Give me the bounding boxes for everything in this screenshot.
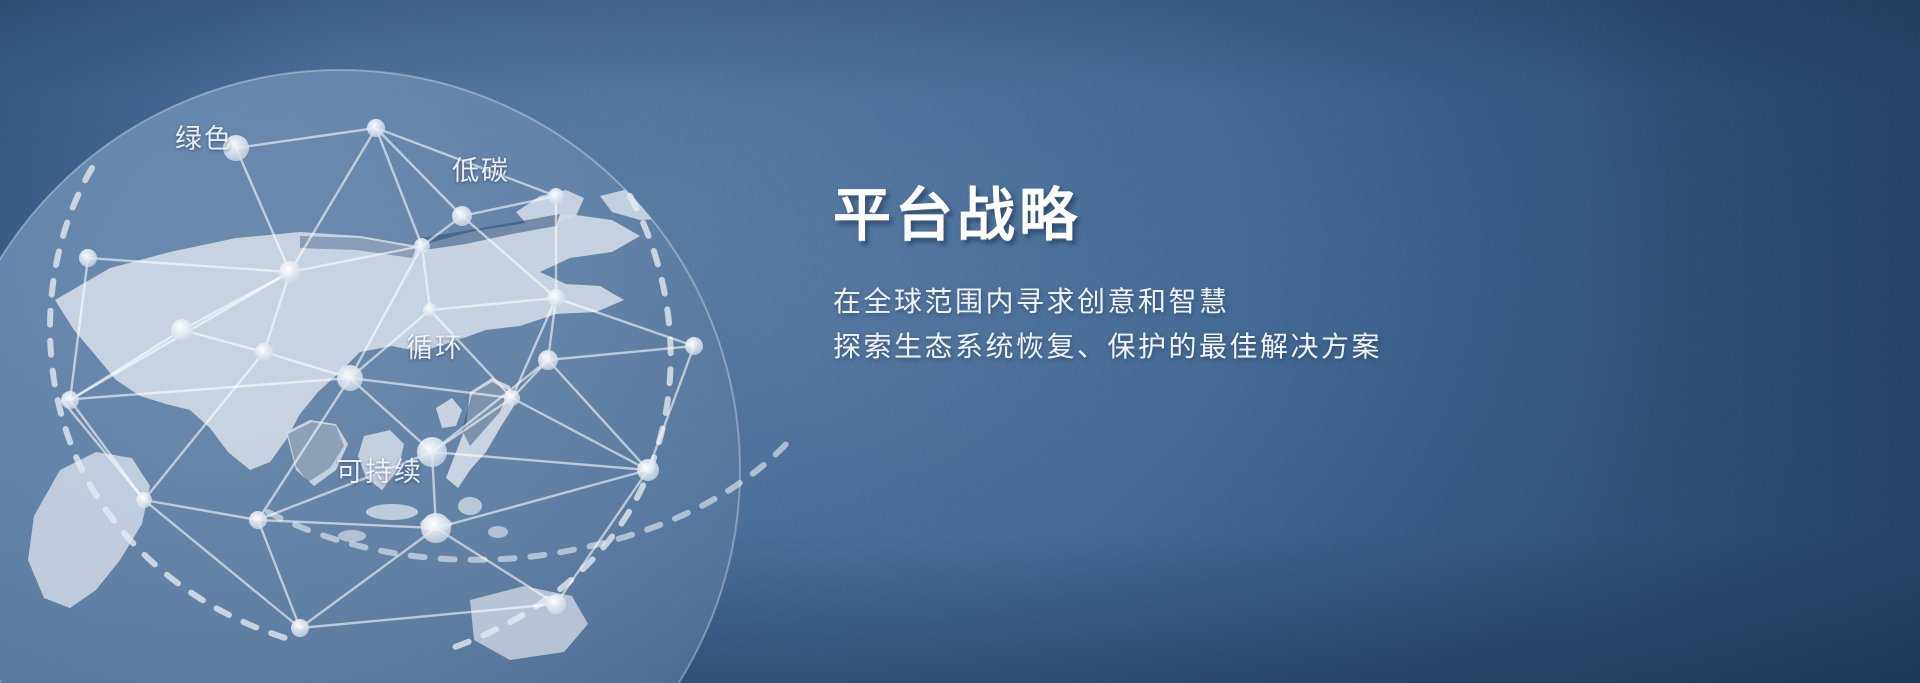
globe-network-graphic: 绿色 低碳 循环 可持续 — [0, 0, 860, 683]
subtitle-group: 在全球范围内寻求创意和智慧 探索生态系统恢复、保护的最佳解决方案 — [833, 279, 1533, 370]
subtitle-line-1: 在全球范围内寻求创意和智慧 — [833, 279, 1533, 324]
page-title: 平台战略 — [833, 186, 1533, 247]
subtitle-line-2: 探索生态系统恢复、保护的最佳解决方案 — [833, 324, 1533, 369]
node-label-low-carbon: 低碳 — [452, 158, 510, 185]
hero-text-block: 平台战略 在全球范围内寻求创意和智慧 探索生态系统恢复、保护的最佳解决方案 — [833, 186, 1533, 370]
node-label-green: 绿色 — [175, 126, 233, 153]
globe-landmasses — [0, 70, 800, 683]
hero-banner: 绿色 低碳 循环 可持续 平台战略 在全球范围内寻求创意和智慧 探索生态系统恢复… — [0, 0, 1920, 683]
node-label-circular: 循环 — [406, 335, 464, 362]
node-label-sustainable: 可持续 — [336, 459, 423, 486]
